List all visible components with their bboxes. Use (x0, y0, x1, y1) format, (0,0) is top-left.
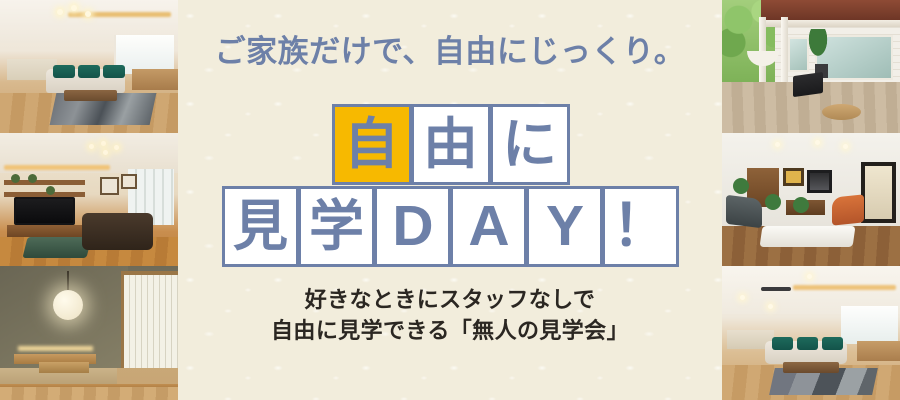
right-photo-strip (722, 0, 900, 400)
title-tile-block: 自 由 に 見 学 D A Y ！ (178, 104, 722, 267)
title-tile: Y (526, 186, 603, 267)
subtitle-line-2: 自由に見学できる「無人の見学会」 (178, 315, 722, 346)
title-tile-row-2: 見 学 D A Y ！ (178, 186, 722, 267)
subtitle-line-1: 好きなときにスタッフなしで (178, 284, 722, 315)
photo-left-tatami-room (0, 266, 178, 400)
photo-right-outdoor-deck (722, 0, 900, 133)
photo-left-media-room (0, 133, 178, 266)
photo-right-open-living-dining (722, 266, 900, 400)
title-tile: 自 (332, 104, 412, 185)
left-photo-strip (0, 0, 178, 400)
title-tile: 学 (298, 186, 375, 267)
title-tile: D (374, 186, 451, 267)
title-tile-row-1: 自 由 に (178, 104, 722, 185)
photo-left-living-room (0, 0, 178, 133)
banner-center-content: ご家族だけで、自由にじっくり。 自 由 に 見 学 D A Y ！ 好きなときに… (178, 0, 722, 400)
title-tile: 見 (222, 186, 299, 267)
banner-headline: ご家族だけで、自由にじっくり。 (178, 36, 722, 67)
title-tile: 由 (411, 104, 491, 185)
photo-right-butterfly-chair-room (722, 133, 900, 266)
title-tile: に (490, 104, 570, 185)
title-tile: ！ (602, 186, 679, 267)
title-tile: A (450, 186, 527, 267)
banner-subtitle: 好きなときにスタッフなしで 自由に見学できる「無人の見学会」 (178, 284, 722, 346)
open-house-promo-banner: ご家族だけで、自由にじっくり。 自 由 に 見 学 D A Y ！ 好きなときに… (0, 0, 900, 400)
